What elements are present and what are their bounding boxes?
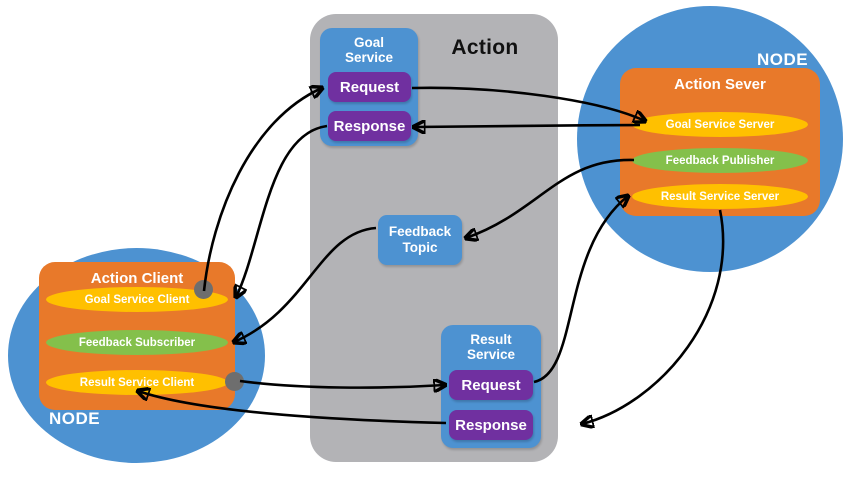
feedback-topic-line2: Topic [403,240,438,255]
result-service-title-line1: Result [470,332,511,347]
connector-dot-result-service-client [225,372,244,391]
node-label-server: NODE [757,50,808,70]
pill-goal-service-server[interactable]: Goal Service Server [632,112,808,137]
pill-result-service-server[interactable]: Result Service Server [632,184,808,209]
result-service-request-box[interactable]: Request [449,370,533,400]
diagram-canvas: Action NODE NODE Action Sever Goal Servi… [0,0,854,480]
result-service-response-box[interactable]: Response [449,410,533,440]
connector-dot-goal-service-client [194,280,213,299]
goal-service-request-box[interactable]: Request [328,72,411,102]
feedback-topic-label: Feedback Topic [389,224,451,256]
goal-service-title-line2: Service [345,50,393,65]
goal-service-response-box[interactable]: Response [328,111,411,141]
result-service-title: Result Service [441,332,541,362]
pill-feedback-publisher[interactable]: Feedback Publisher [632,148,808,173]
arrow-goal-client-to-goal-request [204,88,322,291]
node-label-client: NODE [49,409,100,429]
pill-feedback-subscriber[interactable]: Feedback Subscriber [46,330,228,355]
goal-service-title: Goal Service [320,35,418,65]
feedback-topic-box[interactable]: Feedback Topic [378,215,462,265]
goal-service-title-line1: Goal [354,35,384,50]
action-title: Action [420,36,550,60]
pill-result-service-client[interactable]: Result Service Client [46,370,228,395]
result-service-title-line2: Service [467,347,515,362]
action-server-title: Action Sever [620,76,820,93]
feedback-topic-line1: Feedback [389,224,451,239]
